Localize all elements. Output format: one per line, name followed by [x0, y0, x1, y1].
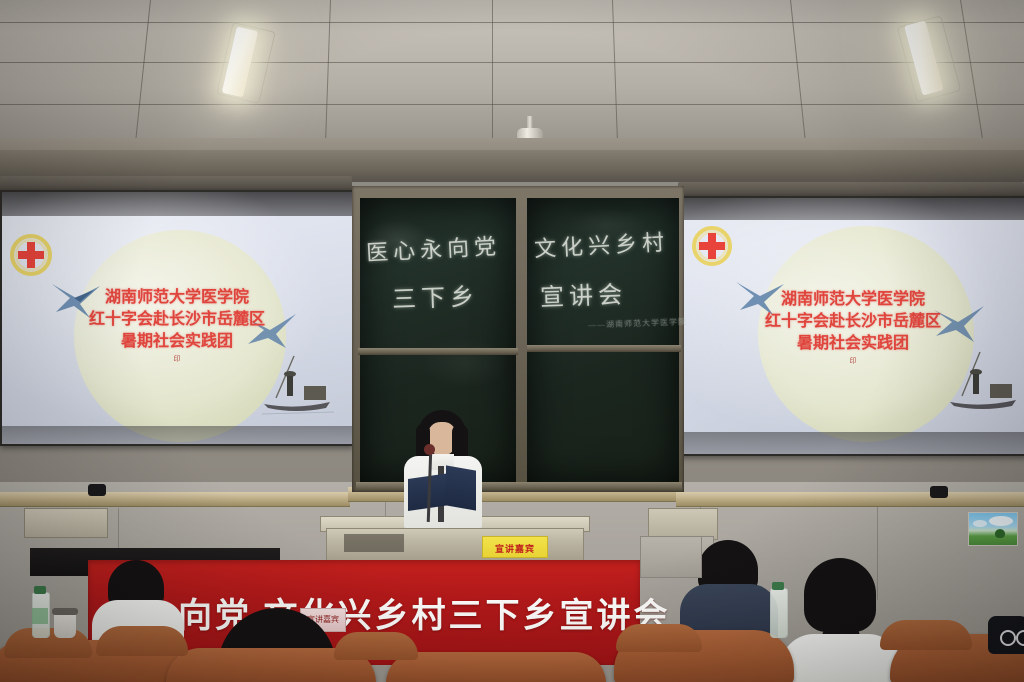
water-bottle-left-label — [32, 608, 48, 624]
chalk-ledge-left — [0, 492, 350, 507]
slide-title-line2-right: 红十字会赴长沙市岳麓区 — [680, 312, 1024, 332]
slide-title-line3-right: 暑期社会实践团 — [680, 334, 1024, 354]
red-cross-emblem-right — [692, 226, 732, 266]
paper-cup-lid — [52, 608, 78, 615]
slide-seal-mark: 印 — [2, 354, 352, 364]
podium-microphone-head — [424, 444, 435, 455]
desk-row-center — [386, 652, 606, 682]
slide-title-line2: 红十字会赴长沙市岳麓区 — [2, 310, 352, 330]
water-bottle-right — [770, 588, 788, 638]
speaker-presenter — [388, 410, 498, 535]
chalk-ledge-right — [676, 492, 1024, 507]
wall-camera-left — [88, 484, 106, 496]
slide-title-line3: 暑期社会实践团 — [2, 332, 352, 352]
podium-placard: 宣讲嘉宾 — [482, 536, 548, 558]
blackboard-chalk-rail-right — [527, 345, 681, 352]
side-table-left — [24, 508, 108, 538]
chair-center-1 — [334, 632, 418, 660]
wall-cabinet-right — [640, 536, 702, 578]
slide-title-line1-right: 湖南师范大学医学院 — [680, 290, 1024, 310]
blackboard-text-line2-left: 三下乡 — [391, 276, 479, 314]
water-bottle-left-cap — [34, 586, 46, 594]
chair-right-1 — [616, 624, 702, 652]
red-cross-emblem — [10, 234, 52, 276]
projection-screen-left: 湖南师范大学医学院 红十字会赴长沙市岳麓区 暑期社会实践团 印 — [0, 190, 354, 446]
paper-cup-left — [54, 612, 76, 638]
podium-placard-text: 宣讲嘉宾 — [483, 542, 547, 555]
ceiling — [0, 0, 1024, 160]
ceiling-tile-grid — [0, 0, 1024, 160]
blackboard-text-line2-right: 宣讲会 — [539, 274, 627, 312]
audience-member-far-right — [778, 558, 904, 682]
lecture-hall-photo: 湖南师范大学医学院 红十字会赴长沙市岳麓区 暑期社会实践团 印 — [0, 0, 1024, 682]
chair-right-2 — [880, 620, 972, 650]
backpack-logo-circle-2 — [1016, 630, 1024, 646]
slide-seal-mark-right: 印 — [680, 356, 1024, 366]
blackboard-chalk-rail-left — [358, 348, 518, 355]
landscape-poster — [968, 512, 1018, 546]
projection-screen-right: 湖南师范大学医学院 红十字会赴长沙市岳麓区 暑期社会实践团 印 — [678, 196, 1024, 456]
wall-camera-right — [930, 486, 948, 498]
backpack-right — [988, 616, 1024, 654]
water-bottle-right-cap — [772, 582, 784, 590]
podium-recess — [344, 534, 404, 552]
slide-title-line1: 湖南师范大学医学院 — [2, 288, 352, 308]
chair-left-2 — [96, 626, 188, 656]
speaker-folder-right-leaf — [446, 465, 476, 510]
backpack-logo-circle-1 — [1000, 630, 1016, 646]
